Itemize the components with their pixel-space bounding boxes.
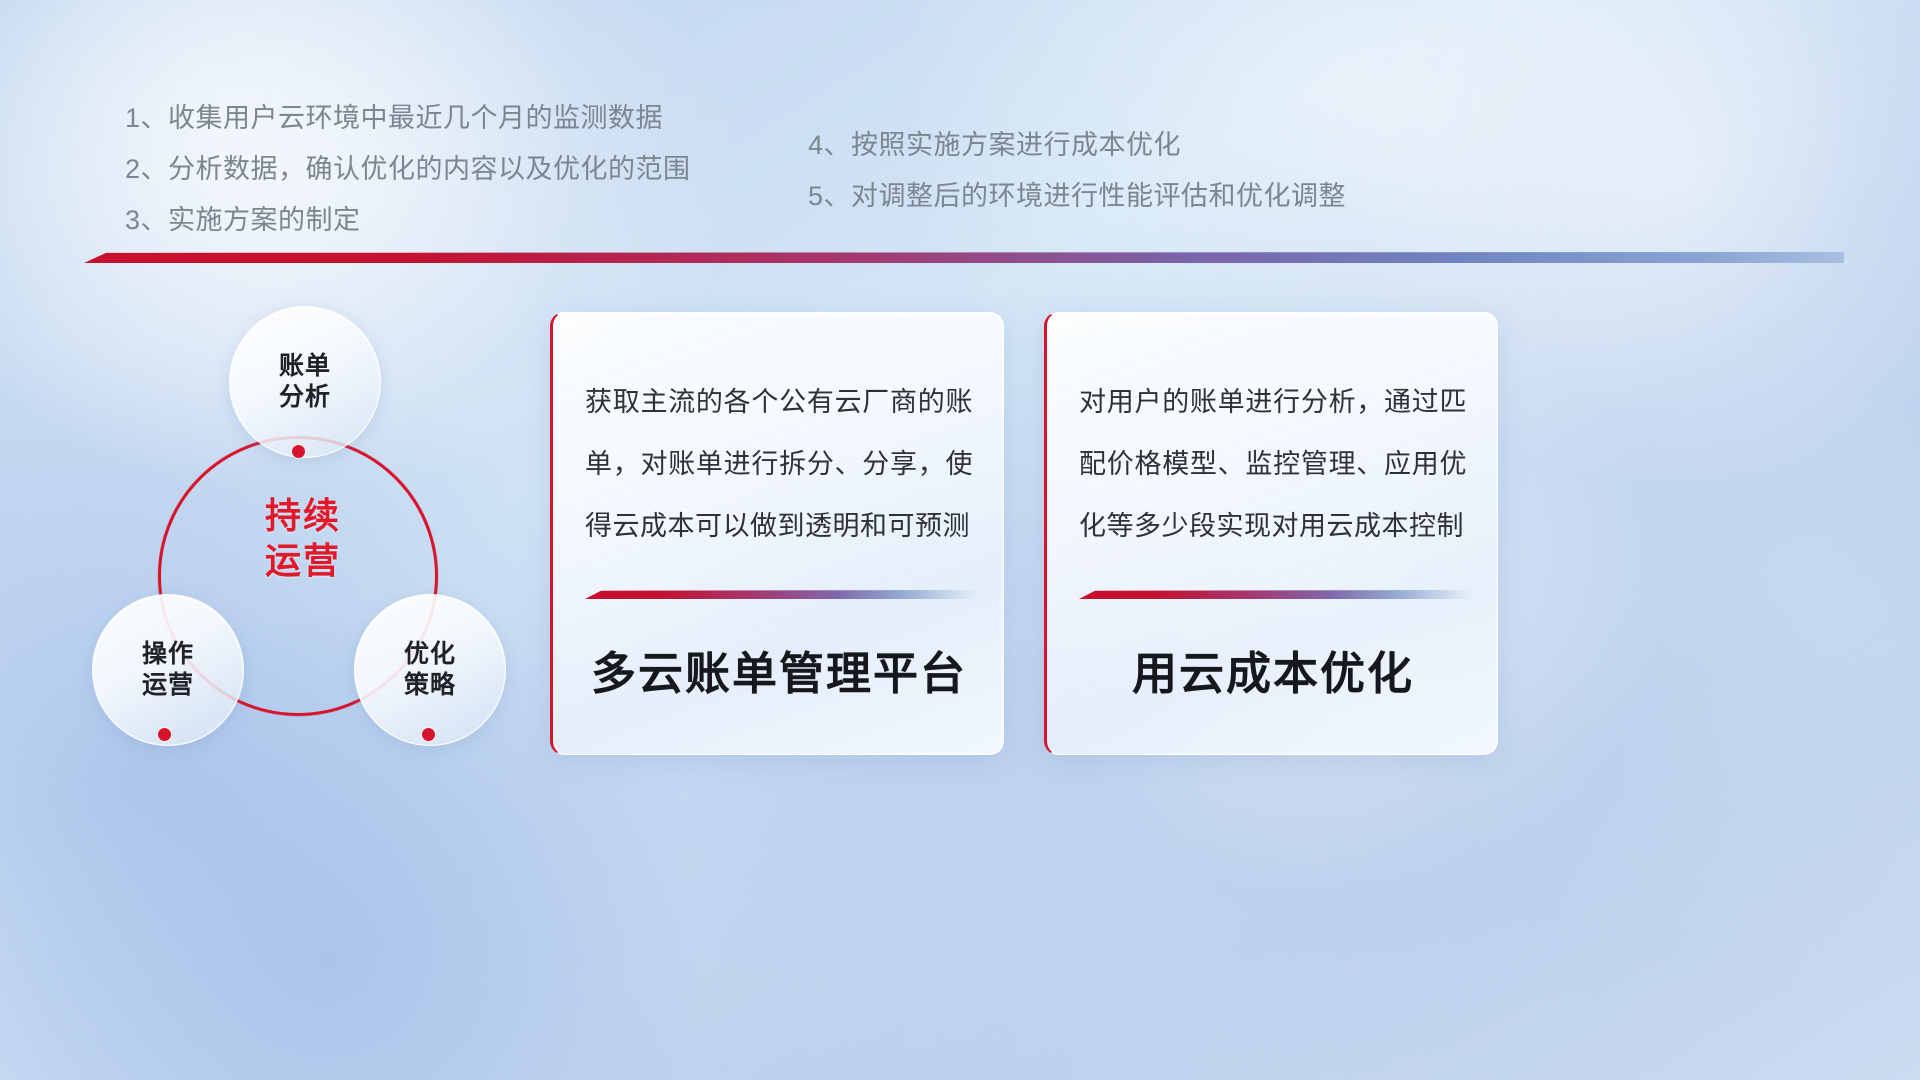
cycle-node-operations[interactable]: 操作 运营 bbox=[92, 594, 244, 746]
cycle-node-label-line1: 优化 bbox=[404, 640, 456, 668]
cycle-center-label-line2: 运营 bbox=[265, 540, 341, 581]
cycle-node-label: 账单 分析 bbox=[279, 351, 331, 413]
cycle-diagram: 账单 分析 操作 运营 优化 策略 持续 运营 bbox=[70, 288, 550, 778]
info-card-title: 用云成本优化 bbox=[1079, 599, 1467, 754]
step-item-2: 2、分析数据，确认优化的内容以及优化的范围 bbox=[125, 144, 765, 195]
cycle-center-label: 持续 运营 bbox=[238, 493, 368, 583]
cycle-node-bill-analysis[interactable]: 账单 分析 bbox=[229, 306, 381, 458]
cycle-node-label-line1: 操作 bbox=[142, 640, 194, 668]
info-card-body: 对用户的账单进行分析，通过匹配价格模型、监控管理、应用优化等多少段实现对用云成本… bbox=[1079, 371, 1467, 557]
info-card-body: 获取主流的各个公有云厂商的账单，对账单进行拆分、分享，使得云成本可以做到透明和可… bbox=[585, 371, 973, 557]
info-card-multicloud-billing[interactable]: 获取主流的各个公有云厂商的账单，对账单进行拆分、分享，使得云成本可以做到透明和可… bbox=[550, 312, 1004, 755]
section-divider-bar bbox=[84, 252, 1844, 263]
step-item-5: 5、对调整后的环境进行性能评估和优化调整 bbox=[808, 171, 1488, 222]
cycle-node-optimization-strategy[interactable]: 优化 策略 bbox=[354, 594, 506, 746]
section-divider bbox=[84, 252, 1844, 263]
step-item-4: 4、按照实施方案进行成本优化 bbox=[808, 120, 1488, 171]
info-card-cost-optimization[interactable]: 对用户的账单进行分析，通过匹配价格模型、监控管理、应用优化等多少段实现对用云成本… bbox=[1044, 312, 1498, 755]
cycle-junction-dot-top bbox=[292, 445, 305, 458]
step-item-3: 3、实施方案的制定 bbox=[125, 195, 765, 246]
steps-list-left: 1、收集用户云环境中最近几个月的监测数据 2、分析数据，确认优化的内容以及优化的… bbox=[125, 93, 765, 246]
cycle-junction-dot-bottom-right bbox=[422, 728, 435, 741]
info-card-divider bbox=[1079, 590, 1473, 599]
cycle-node-label-line2: 运营 bbox=[142, 671, 194, 699]
cycle-node-label-line1: 账单 bbox=[279, 352, 331, 380]
cycle-node-label-line2: 分析 bbox=[279, 383, 331, 411]
cycle-center-label-line1: 持续 bbox=[265, 495, 341, 536]
cycle-node-label: 优化 策略 bbox=[404, 639, 456, 701]
cycle-node-label-line2: 策略 bbox=[404, 671, 456, 699]
cycle-node-label: 操作 运营 bbox=[142, 639, 194, 701]
cycle-junction-dot-bottom-left bbox=[158, 728, 171, 741]
step-item-1: 1、收集用户云环境中最近几个月的监测数据 bbox=[125, 93, 765, 144]
info-card-divider bbox=[585, 590, 979, 599]
info-card-title: 多云账单管理平台 bbox=[585, 599, 973, 754]
steps-list-right: 4、按照实施方案进行成本优化 5、对调整后的环境进行性能评估和优化调整 bbox=[808, 120, 1488, 222]
